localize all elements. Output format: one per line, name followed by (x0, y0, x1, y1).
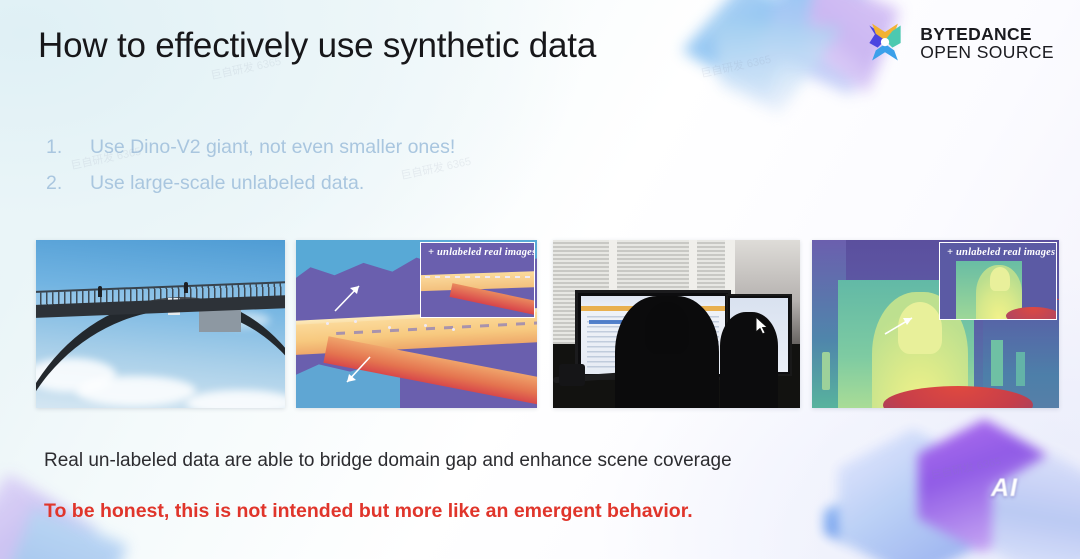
inset-unlabeled-real-images: + unlabeled real images (420, 242, 535, 318)
pedestrian-silhouette (98, 286, 102, 297)
list-item-label: Use Dino-V2 giant, not even smaller ones… (90, 136, 455, 159)
emphasis-text: To be honest, this is not intended but m… (44, 500, 693, 523)
list-item-label: Use large-scale unlabeled data. (90, 172, 364, 195)
person-silhouette-secondary (720, 312, 778, 408)
inset-label: + unlabeled real images (940, 243, 1056, 262)
crystal-decoration-bottom-right (804, 399, 1080, 559)
slide-canvas: AI How to effectively use synthetic data… (0, 0, 1080, 559)
panel-bridge-photo (36, 240, 285, 408)
list-item: 1. Use Dino-V2 giant, not even smaller o… (46, 136, 455, 159)
panel-office-depth-map: + unlabeled real images (812, 240, 1059, 408)
list-item-number: 1. (46, 136, 90, 159)
logo-line-1: BYTEDANCE (920, 25, 1054, 43)
crystal-decoration-top (672, 0, 887, 101)
list-item-number: 2. (46, 172, 90, 195)
list-item: 2. Use large-scale unlabeled data. (46, 172, 455, 195)
caption-text: Real un-labeled data are able to bridge … (44, 450, 732, 472)
image-strip: + unlabeled real images (0, 240, 1080, 408)
bytedance-x-mark-icon (862, 20, 908, 66)
mouse-cursor-icon (755, 316, 769, 336)
pointer-arrow-icon (342, 354, 376, 388)
logo-wordmark: BYTEDANCE OPEN SOURCE (920, 25, 1054, 61)
bullet-list: 1. Use Dino-V2 giant, not even smaller o… (46, 136, 455, 208)
bytedance-open-source-logo: BYTEDANCE OPEN SOURCE (862, 20, 1054, 66)
pointer-arrow-icon (332, 280, 366, 314)
logo-line-2: OPEN SOURCE (920, 43, 1054, 61)
ai-cube-label: AI (991, 474, 1018, 503)
page-title: How to effectively use synthetic data (38, 26, 596, 66)
pointer-arrow-icon (882, 312, 918, 340)
watermark: 巨自研发 6365 (699, 51, 772, 82)
person-head-silhouette (645, 302, 689, 354)
inset-label: + unlabeled real images (421, 243, 534, 262)
inset-unlabeled-real-images: + unlabeled real images (939, 242, 1057, 320)
pedestrian-silhouette (184, 282, 188, 293)
panel-bridge-depth-map: + unlabeled real images (296, 240, 537, 408)
